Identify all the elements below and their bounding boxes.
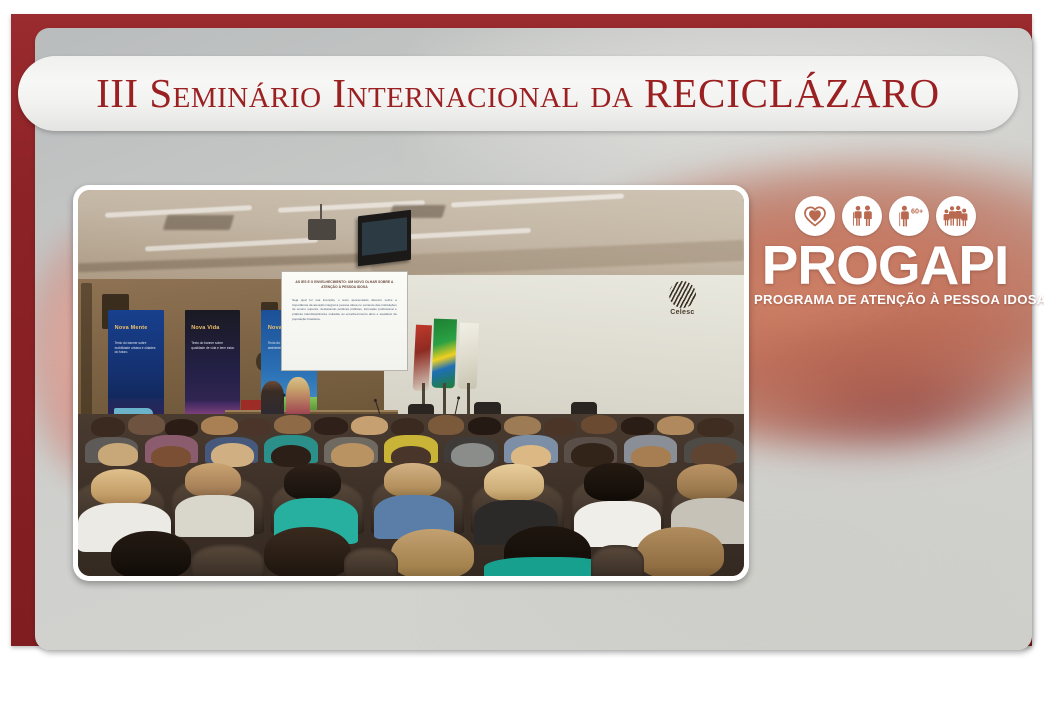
audience-head bbox=[165, 419, 198, 437]
audience-head bbox=[484, 464, 544, 501]
audience-body bbox=[175, 495, 255, 537]
audience-head bbox=[451, 443, 494, 467]
banner-1: Nova Mente Texto do banner sobre mobilid… bbox=[108, 310, 164, 430]
audience-head bbox=[677, 464, 737, 500]
sixty-plus-person-icon: 60+ bbox=[889, 196, 929, 236]
speaker-2 bbox=[286, 377, 310, 416]
audience-head bbox=[697, 418, 734, 437]
audience-head bbox=[504, 416, 541, 435]
audience-head bbox=[128, 414, 165, 435]
progapi-logo: 60+ PROGAPI bbox=[754, 196, 1016, 307]
projection-body: Seja qual for sua intenção, o texto apre… bbox=[292, 298, 397, 323]
svg-text:60+: 60+ bbox=[911, 207, 923, 216]
audience-head bbox=[284, 464, 341, 500]
venue-logo-mark bbox=[669, 281, 696, 308]
projection-screen: AS IES E O ENVELHECIMENTO: UM NOVO OLHAR… bbox=[281, 271, 408, 371]
hanging-monitor bbox=[358, 210, 411, 267]
banner-1-body: Texto do banner sobre mobilidade urbana … bbox=[115, 341, 159, 355]
progapi-tagline: PROGRAMA DE ATENÇÃO À PESSOA IDOSA bbox=[754, 292, 1016, 307]
ceiling-projector bbox=[308, 219, 336, 240]
audience-head bbox=[631, 446, 671, 467]
audience-head bbox=[274, 415, 311, 434]
page-title: III Seminário Internacional da RECICLÁZA… bbox=[96, 73, 940, 114]
audience-head bbox=[581, 415, 618, 434]
audience-head bbox=[185, 463, 242, 497]
audience-head bbox=[238, 418, 271, 436]
progapi-icon-row: 60+ bbox=[754, 196, 1016, 236]
slide-root: III Seminário Internacional da RECICLÁZA… bbox=[0, 0, 1044, 706]
auditorium-seat bbox=[191, 544, 264, 576]
audience-head bbox=[468, 417, 501, 435]
heart-icon bbox=[795, 196, 835, 236]
auditorium-seat bbox=[344, 547, 397, 576]
audience-head bbox=[351, 416, 388, 435]
elderly-couple-icon bbox=[842, 196, 882, 236]
projection-heading: AS IES E O ENVELHECIMENTO: UM NOVO OLHAR… bbox=[292, 280, 397, 290]
audience-head bbox=[151, 446, 191, 467]
audience-head bbox=[111, 531, 191, 576]
flag-brasil bbox=[432, 319, 457, 389]
auditorium-seat bbox=[591, 545, 644, 576]
ceiling-vent-1 bbox=[162, 215, 233, 230]
monitor-screen bbox=[362, 217, 407, 256]
audience-head bbox=[384, 463, 441, 497]
audience-head bbox=[584, 463, 644, 502]
title-banner: III Seminário Internacional da RECICLÁZA… bbox=[18, 56, 1018, 131]
audience-head bbox=[264, 527, 351, 576]
audience-head bbox=[91, 417, 124, 436]
audience-head bbox=[621, 417, 654, 435]
audience-head bbox=[544, 418, 577, 436]
venue-logo-text: Celesc bbox=[667, 309, 697, 316]
family-group-icon bbox=[936, 196, 976, 236]
audience-head bbox=[428, 415, 465, 435]
event-photo: Nova Mente Texto do banner sobre mobilid… bbox=[78, 190, 744, 576]
flag-santa-catarina bbox=[412, 325, 431, 391]
banner-2-body: Texto do banner sobre qualidade de vida … bbox=[191, 341, 235, 351]
audience-head bbox=[331, 443, 374, 467]
audience-head bbox=[98, 443, 138, 466]
banner-2-title: Nova Vida bbox=[191, 325, 219, 331]
event-photo-frame: Nova Mente Texto do banner sobre mobilid… bbox=[73, 185, 749, 581]
audience-head bbox=[657, 416, 694, 435]
venue-logo: Celesc bbox=[667, 281, 697, 319]
speaker-1 bbox=[261, 381, 284, 416]
banner-1-title: Nova Mente bbox=[115, 325, 148, 331]
audience-head bbox=[391, 418, 424, 436]
title-prefix: III Seminário Internacional da bbox=[96, 70, 644, 116]
audience-head bbox=[637, 527, 724, 576]
audience-head bbox=[91, 469, 151, 505]
title-highlight: RECICLÁZARO bbox=[644, 70, 940, 116]
progapi-wordmark: PROGAPI bbox=[754, 240, 1016, 291]
audience-head bbox=[314, 417, 347, 435]
audience-area bbox=[78, 414, 744, 576]
audience-head bbox=[201, 416, 238, 435]
audience-head bbox=[391, 529, 474, 576]
flag-municipio bbox=[458, 323, 479, 389]
